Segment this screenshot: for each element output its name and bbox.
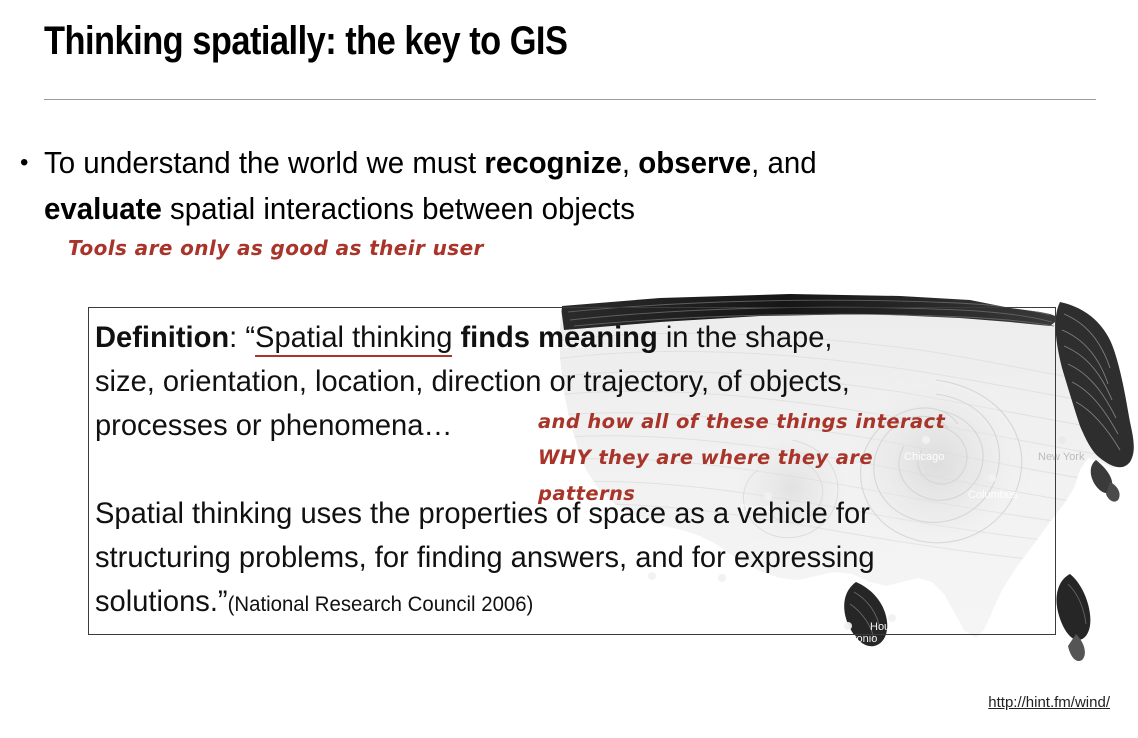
source-url-link[interactable]: http://hint.fm/wind/	[988, 694, 1110, 711]
annotation-tools-note: Tools are only as good as their user	[68, 236, 484, 260]
bullet-emphasis-recognize: recognize	[484, 145, 621, 180]
annotation-overlay-group: and how all of these things interact WHY…	[538, 404, 945, 512]
list-item: • To understand the world we must recogn…	[20, 140, 1040, 232]
definition-underlined-phrase: Spatial thinking	[255, 321, 452, 357]
annotation-patterns: patterns	[538, 476, 945, 512]
bullet-marker: •	[20, 140, 44, 186]
definition-line-2: size, orientation, location, direction o…	[95, 360, 1020, 404]
bullet-emphasis-observe: observe	[638, 145, 751, 180]
bullet-list: • To understand the world we must recogn…	[20, 140, 1040, 232]
title-divider	[44, 99, 1096, 100]
slide-canvas: Thinking spatially: the key to GIS	[0, 0, 1138, 738]
bullet-text-segment: To understand the world we must	[44, 145, 484, 180]
definition-line-5: structuring problems, for finding answer…	[95, 536, 1020, 580]
bullet-text-segment: spatial interactions between objects	[162, 191, 635, 226]
bullet-line-2: evaluate spatial interactions between ob…	[44, 186, 817, 232]
annotation-why: WHY they are where they are	[538, 440, 945, 476]
page-title: Thinking spatially: the key to GIS	[44, 19, 567, 64]
definition-bold-phrase: finds meaning	[452, 321, 657, 354]
definition-citation: (National Research Council 2006)	[228, 593, 534, 616]
bullet-emphasis-evaluate: evaluate	[44, 191, 162, 226]
definition-line-6: solutions.”(National Research Council 20…	[95, 580, 1020, 627]
definition-line-1: Definition: “Spatial thinking finds mean…	[95, 316, 1020, 360]
definition-text-segment: : “	[229, 321, 255, 354]
bullet-text-segment: , and	[751, 145, 817, 180]
definition-text-segment: in the shape,	[658, 321, 833, 354]
annotation-interact: and how all of these things interact	[538, 404, 945, 440]
bullet-line-1: To understand the world we must recogniz…	[44, 140, 817, 186]
definition-label: Definition	[95, 321, 229, 354]
definition-text-segment: solutions.”	[95, 585, 228, 618]
bullet-text-segment: ,	[622, 145, 638, 180]
